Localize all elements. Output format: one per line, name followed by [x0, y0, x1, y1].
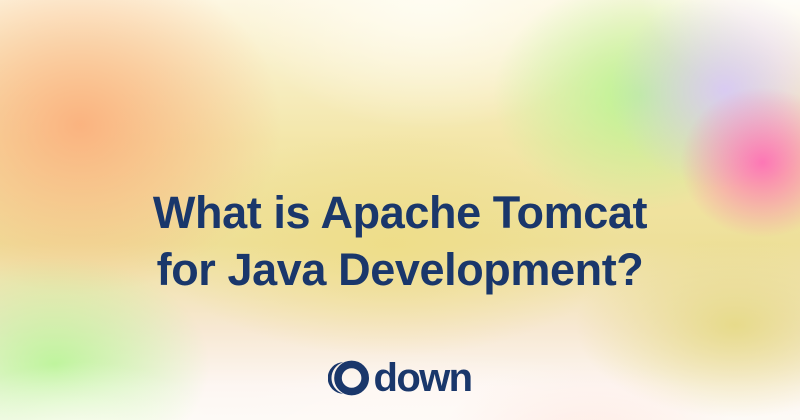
share-card: What is Apache Tomcat for Java Developme…: [0, 0, 800, 420]
odown-o-ring-icon: [328, 358, 372, 398]
logo-wordmark: down: [373, 358, 471, 398]
card-content: What is Apache Tomcat for Java Developme…: [0, 0, 800, 420]
page-title: What is Apache Tomcat for Java Developme…: [0, 185, 800, 298]
brand-logo: down: [0, 358, 800, 398]
